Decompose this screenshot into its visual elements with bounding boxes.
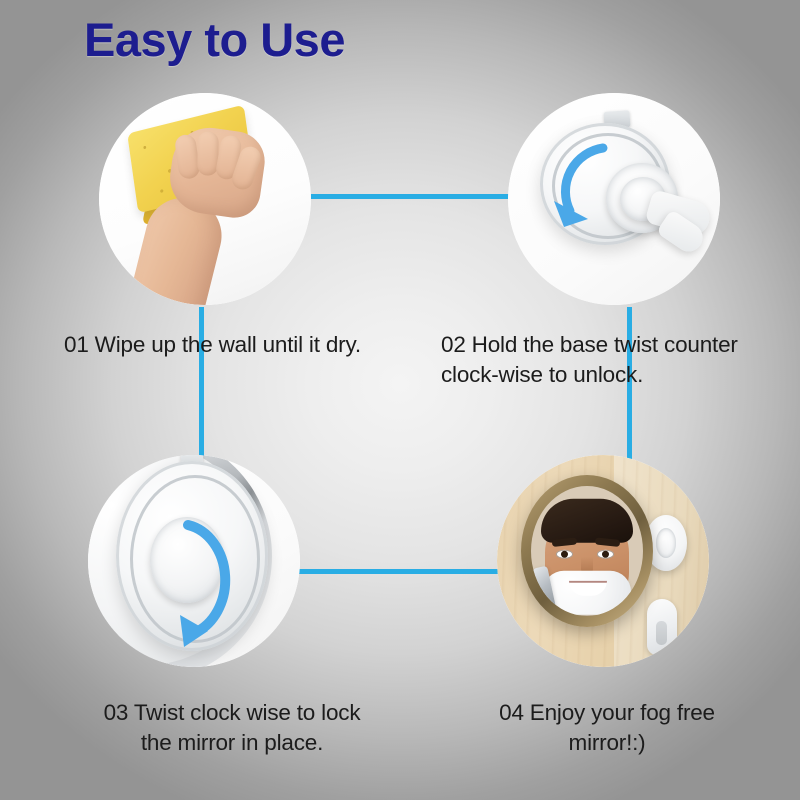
step-04-caption: 04 Enjoy your fog free mirror!:)	[452, 698, 762, 759]
step-01-scene	[99, 93, 311, 305]
eye-right	[597, 550, 614, 559]
step-02-scene	[508, 93, 720, 305]
step-04-scene	[497, 455, 709, 667]
easy-to-use-infographic: Easy to Use	[0, 0, 800, 800]
wall-hook-icon	[647, 599, 677, 655]
step-03-scene	[88, 455, 300, 667]
man-face-reflection	[535, 497, 639, 615]
step-04-image-circle	[497, 455, 709, 667]
step-01-image-circle	[99, 93, 311, 305]
step-02-image-circle	[508, 93, 720, 305]
counter-clockwise-arrow-icon	[508, 93, 720, 305]
step-03-image-circle	[88, 455, 300, 667]
step-01-caption: 01 Wipe up the wall until it dry.	[64, 330, 361, 360]
step-03-caption: 03 Twist clock wise to lock the mirror i…	[72, 698, 392, 759]
mirror-glass	[531, 486, 643, 616]
step-02-caption: 02 Hold the base twist counter clock-wis…	[441, 330, 738, 391]
eye-left	[556, 550, 573, 559]
page-title: Easy to Use	[84, 12, 345, 67]
clockwise-arrow-icon	[88, 455, 300, 667]
hair	[541, 499, 633, 543]
mirror-frame	[521, 475, 653, 627]
